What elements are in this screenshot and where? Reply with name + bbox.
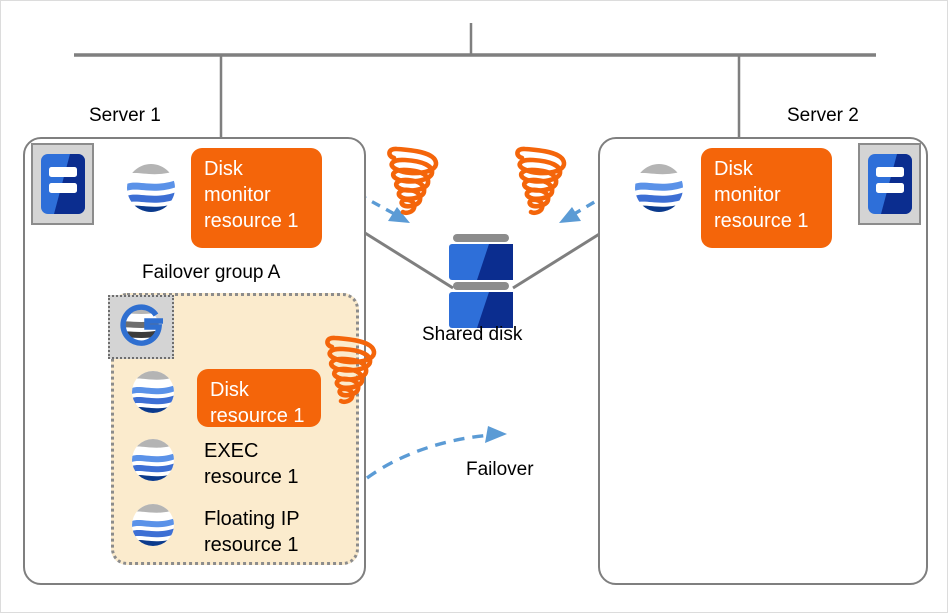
server-icon [858,143,921,225]
server-unit-icon [40,153,86,215]
diagram-canvas: Server 1 Disk monitor resource 1 Failove… [0,0,948,613]
globe-icon [132,439,174,486]
exec-resource-1[interactable]: EXEC resource 1 [204,438,299,490]
failover-group-label: Failover group A [142,262,280,284]
server-icon [31,143,94,225]
failover-group-icon [108,295,174,359]
disk-monitor-resource-1-server-2[interactable]: Disk monitor resource 1 [701,148,832,248]
shared-disk-label: Shared disk [422,324,522,346]
disk-monitor-resource-1-server-1[interactable]: Disk monitor resource 1 [191,148,322,248]
tornado-icon [381,146,445,231]
tornado-icon [319,335,383,420]
tornado-icon [509,146,573,231]
disk-resource-1[interactable]: Disk resource 1 [197,369,321,427]
shared-disk-icon [449,234,513,328]
failover-caption: Failover [466,459,534,481]
globe-icon [132,371,174,418]
globe-icon [635,164,683,217]
server-2-label: Server 2 [787,105,859,127]
server-1-label: Server 1 [89,105,161,127]
globe-icon [132,504,174,551]
network-bus [74,23,876,141]
globe-icon [127,164,175,217]
floating-ip-resource-1[interactable]: Floating IP resource 1 [204,506,300,558]
server-unit-icon [867,153,913,215]
